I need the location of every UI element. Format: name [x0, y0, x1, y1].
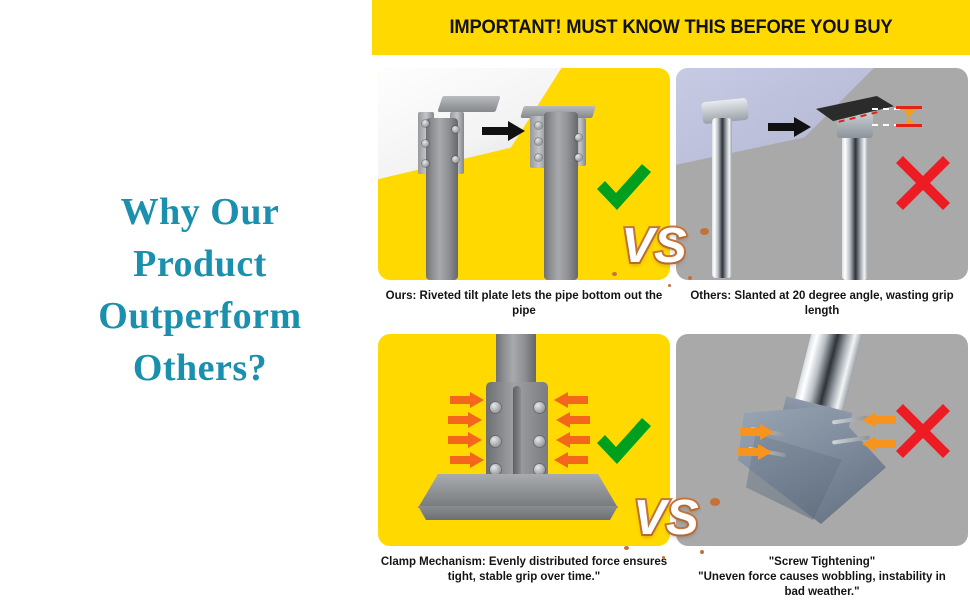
x-icon [894, 154, 952, 212]
panel-theirs-screw [676, 334, 968, 546]
bolt-icon [452, 156, 459, 163]
x-icon [894, 402, 952, 460]
vs-speck [688, 276, 692, 280]
check-icon [592, 412, 654, 472]
bolt-icon [534, 464, 545, 475]
caption-ours-tilt-plate: Ours: Riveted tilt plate lets the pipe b… [378, 289, 670, 319]
cell-theirs-slanted: Others: Slanted at 20 degree angle, wast… [676, 68, 968, 319]
page-title-line-4: Others? [40, 342, 360, 394]
caption-line-1: "Screw Tightening" [676, 555, 968, 570]
bolt-icon [575, 134, 582, 141]
bolt-icon [422, 120, 429, 127]
vs-badge-bottom: VS [620, 490, 712, 546]
force-arrow-icon [740, 424, 774, 440]
gap-top-marker [896, 106, 922, 109]
bolt-icon [535, 122, 542, 129]
pipe-right [544, 112, 578, 280]
vs-speck [710, 498, 720, 506]
comparison-infographic: Why Our Product Outperform Others? IMPOR… [0, 0, 970, 600]
force-arrow-icon [554, 452, 588, 468]
check-icon [592, 158, 654, 218]
bolt-icon [422, 140, 429, 147]
force-arrow-icon [556, 432, 590, 448]
caption-line-3: bad weather." [676, 585, 968, 600]
vs-speck [662, 556, 665, 559]
gap-size-icon [903, 110, 915, 124]
gap-bottom-marker [896, 124, 922, 127]
bolt-icon [535, 138, 542, 145]
panel-theirs-slanted [676, 68, 968, 280]
arrow-right-icon [482, 120, 526, 142]
bolt-icon [534, 402, 545, 413]
pipe-left [426, 118, 458, 280]
caption-ours-clamp: Clamp Mechanism: Evenly distributed forc… [378, 555, 670, 585]
caption-theirs-screw: "Screw Tightening" "Uneven force causes … [676, 555, 968, 600]
vs-speck [700, 228, 709, 235]
page-title-line-3: Outperform [40, 290, 360, 342]
mount-plate-left [437, 96, 500, 112]
page-title-line-1: Why Our [40, 186, 360, 238]
bolt-icon [452, 126, 459, 133]
force-arrow-icon [738, 444, 772, 460]
force-arrow-icon [554, 392, 588, 408]
vs-speck [624, 546, 629, 550]
warning-banner: IMPORTANT! MUST KNOW THIS BEFORE YOU BUY [372, 0, 970, 55]
page-title-line-2: Product [40, 238, 360, 290]
force-arrow-icon [450, 392, 484, 408]
base-plate-foot [418, 506, 618, 520]
vs-badge-top: VS [608, 218, 700, 274]
arrow-right-icon [768, 116, 812, 138]
cell-theirs-screw: "Screw Tightening" "Uneven force causes … [676, 334, 968, 600]
force-arrow-icon [448, 412, 482, 428]
force-arrow-icon [862, 412, 896, 428]
cell-ours-tilt-plate: Ours: Riveted tilt plate lets the pipe b… [378, 68, 670, 319]
force-arrow-icon [862, 436, 896, 452]
base-plate [418, 474, 618, 508]
force-arrow-icon [448, 432, 482, 448]
vs-speck [700, 550, 704, 554]
page-title: Why Our Product Outperform Others? [40, 186, 360, 394]
warning-banner-text: IMPORTANT! MUST KNOW THIS BEFORE YOU BUY [390, 0, 952, 55]
caption-theirs-slanted: Others: Slanted at 20 degree angle, wast… [676, 289, 968, 319]
bolt-icon [490, 402, 501, 413]
bolt-icon [490, 464, 501, 475]
vs-speck [668, 284, 671, 287]
bolt-icon [534, 436, 545, 447]
bolt-icon [575, 154, 582, 161]
pipe-chrome-left [712, 118, 732, 278]
bolt-icon [422, 160, 429, 167]
bolt-icon [490, 436, 501, 447]
bolt-icon [535, 154, 542, 161]
force-arrow-icon [556, 412, 590, 428]
force-arrow-icon [450, 452, 484, 468]
caption-line-2: "Uneven force causes wobbling, instabili… [676, 570, 968, 585]
vs-speck [612, 272, 617, 276]
